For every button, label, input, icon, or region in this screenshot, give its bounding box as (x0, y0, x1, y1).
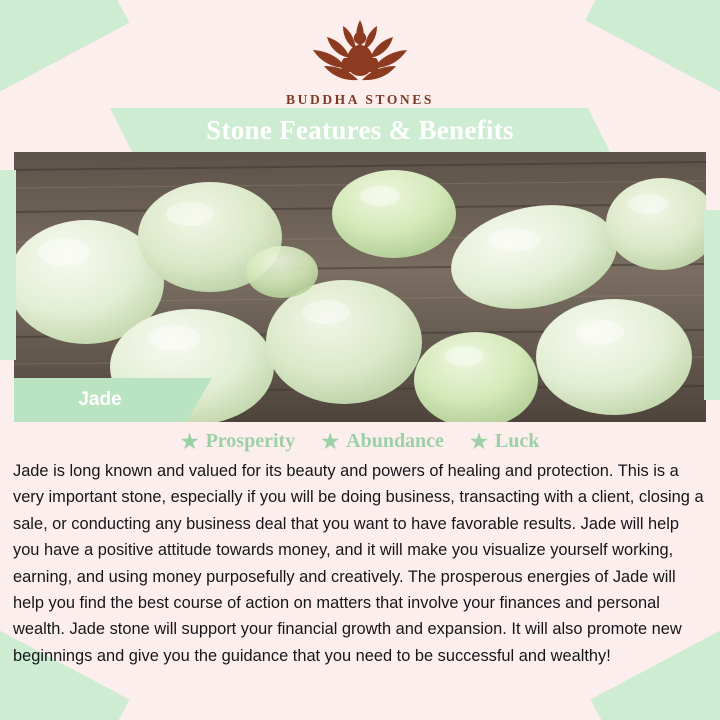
page-title: Stone Features & Benefits (0, 108, 720, 152)
brand-logo-area: BUDDHA STONES (0, 14, 720, 108)
benefits-row: ★ Prosperity ★ Abundance ★ Luck (0, 430, 720, 453)
decor-stripe-left (0, 170, 16, 360)
stone-name-ribbon: Jade (14, 378, 334, 422)
star-icon: ★ (181, 432, 199, 452)
benefit-item: ★ Abundance (321, 430, 444, 453)
title-banner: Stone Features & Benefits (0, 108, 720, 152)
benefit-label: Abundance (346, 430, 444, 453)
benefit-label: Prosperity (206, 430, 296, 453)
lotus-buddha-icon (300, 14, 420, 88)
star-icon: ★ (470, 432, 488, 452)
benefit-item: ★ Luck (470, 430, 539, 453)
decor-stripe-right (704, 210, 720, 400)
stone-name-label: Jade (14, 378, 186, 422)
infographic-page: BUDDHA STONES Stone Features & Benefits (0, 0, 720, 720)
benefit-item: ★ Prosperity (181, 430, 296, 453)
benefit-label: Luck (495, 430, 539, 453)
star-icon: ★ (321, 432, 339, 452)
brand-name: BUDDHA STONES (0, 92, 720, 108)
description-text: Jade is long known and valued for its be… (13, 458, 707, 669)
